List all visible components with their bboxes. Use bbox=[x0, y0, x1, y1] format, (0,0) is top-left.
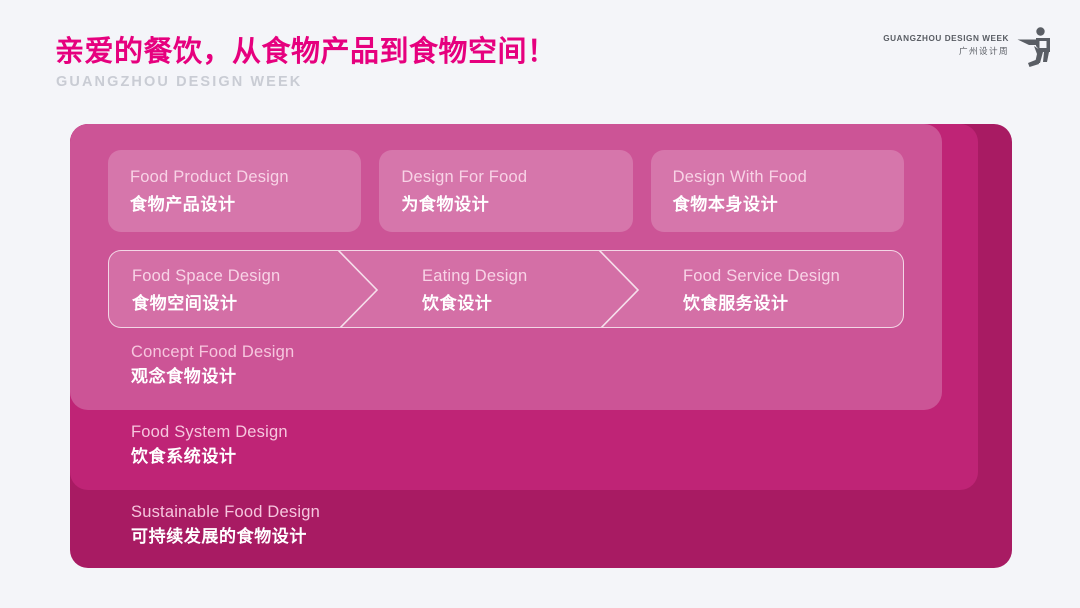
layer-label-en: Food System Design bbox=[131, 422, 288, 443]
chevron-flow-band: Food Space Design 食物空间设计 Eating Design 饮… bbox=[108, 250, 904, 328]
card-label-cn: 为食物设计 bbox=[401, 190, 632, 215]
card-label-en: Design For Food bbox=[401, 168, 632, 187]
logo-text: GUANGZHOU DESIGN WEEK 广州设计周 bbox=[883, 33, 1009, 58]
chevron-divider-2 bbox=[598, 251, 638, 328]
layer-label-en: Sustainable Food Design bbox=[131, 502, 320, 523]
chevron-eating-design[interactable]: Eating Design 饮食设计 bbox=[422, 251, 527, 328]
chevron-divider-1 bbox=[337, 251, 377, 328]
card-label-cn: 食物本身设计 bbox=[673, 190, 904, 215]
card-food-product-design[interactable]: Food Product Design 食物产品设计 bbox=[108, 150, 361, 232]
chevron-label-cn: 饮食设计 bbox=[422, 289, 527, 314]
page-subtitle: GUANGZHOU DESIGN WEEK bbox=[56, 74, 302, 90]
layer-label-cn: 可持续发展的食物设计 bbox=[131, 526, 320, 548]
layer-label-cn: 饮食系统设计 bbox=[131, 446, 288, 468]
chevron-label-en: Food Space Design bbox=[132, 267, 280, 286]
logo-text-en: GUANGZHOU DESIGN WEEK bbox=[883, 33, 1009, 44]
page-title: 亲爱的餐饮，从食物产品到食物空间！ bbox=[55, 28, 557, 70]
card-design-for-food[interactable]: Design For Food 为食物设计 bbox=[379, 150, 632, 232]
running-figure-icon bbox=[1016, 22, 1058, 68]
card-label-cn: 食物产品设计 bbox=[130, 190, 361, 215]
nested-food-design-diagram: Food Product Design 食物产品设计 Design For Fo… bbox=[70, 124, 1012, 568]
brand-logo: GUANGZHOU DESIGN WEEK 广州设计周 bbox=[883, 22, 1058, 68]
chevron-label-cn: 食物空间设计 bbox=[132, 289, 280, 314]
layer-label-en: Concept Food Design bbox=[131, 342, 294, 363]
label-sustainable-food-design: Sustainable Food Design 可持续发展的食物设计 bbox=[131, 502, 320, 548]
card-label-en: Food Product Design bbox=[130, 168, 361, 187]
chevron-food-space-design[interactable]: Food Space Design 食物空间设计 bbox=[132, 251, 280, 328]
card-label-en: Design With Food bbox=[673, 168, 904, 187]
chevron-label-cn: 饮食服务设计 bbox=[683, 289, 840, 314]
layer-label-cn: 观念食物设计 bbox=[131, 366, 294, 388]
logo-text-cn: 广州设计周 bbox=[883, 46, 1009, 58]
chevron-label-en: Food Service Design bbox=[683, 267, 840, 286]
top-card-row: Food Product Design 食物产品设计 Design For Fo… bbox=[108, 150, 904, 232]
card-design-with-food[interactable]: Design With Food 食物本身设计 bbox=[651, 150, 904, 232]
page-header: 亲爱的餐饮，从食物产品到食物空间！ GUANGZHOU DESIGN WEEK … bbox=[0, 0, 1080, 118]
chevron-label-en: Eating Design bbox=[422, 267, 527, 286]
label-concept-food-design: Concept Food Design 观念食物设计 bbox=[131, 342, 294, 388]
label-food-system-design: Food System Design 饮食系统设计 bbox=[131, 422, 288, 468]
chevron-food-service-design[interactable]: Food Service Design 饮食服务设计 bbox=[683, 251, 840, 328]
